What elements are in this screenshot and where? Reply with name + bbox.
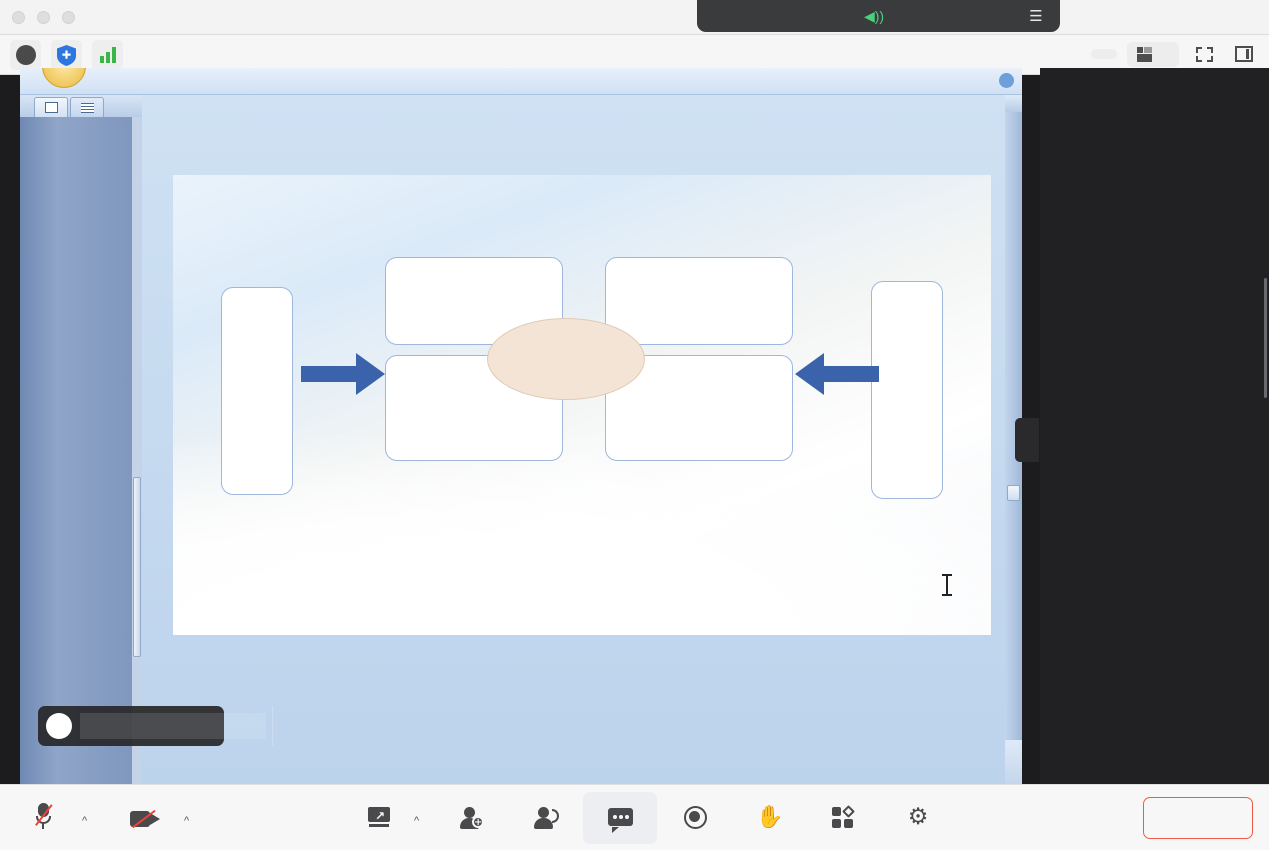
mic-off-icon xyxy=(34,803,52,829)
share-screen-icon: ↗ xyxy=(367,803,391,829)
shared-powerpoint-window xyxy=(20,68,1022,784)
security-button[interactable] xyxy=(51,40,82,70)
tab-slides[interactable] xyxy=(34,97,68,117)
participants-panel xyxy=(1040,68,1269,784)
text-cursor-icon xyxy=(946,575,948,595)
chat-button[interactable] xyxy=(583,792,657,844)
members-button[interactable] xyxy=(508,792,582,844)
apps-icon xyxy=(832,803,856,829)
settings-button[interactable]: ⚙ xyxy=(881,792,955,844)
tab-outline[interactable] xyxy=(70,97,104,117)
thumbnail-pane-header xyxy=(20,95,142,117)
info-icon xyxy=(16,45,36,65)
share-options-chevron-icon[interactable]: ^ xyxy=(414,815,419,827)
slide-box-unity xyxy=(605,257,793,345)
signal-bars-icon xyxy=(100,47,116,63)
apps-button[interactable] xyxy=(807,792,881,844)
slide-canvas-area xyxy=(142,95,1022,784)
ppt-ribbon xyxy=(20,68,1022,95)
record-button[interactable] xyxy=(658,792,732,844)
chat-overlay-bar[interactable] xyxy=(38,706,224,746)
members-icon xyxy=(533,803,557,829)
window-controls[interactable] xyxy=(12,11,75,24)
raise-hand-icon: ✋ xyxy=(756,803,783,829)
slide-right-box xyxy=(871,281,943,499)
slide-thumbnail-pane xyxy=(20,95,142,784)
window-title-bar: ◀)) ☰ xyxy=(0,0,1269,35)
fullscreen-icon xyxy=(1196,47,1213,62)
collapse-panel-button[interactable] xyxy=(1015,418,1039,462)
thumbnail-list[interactable] xyxy=(20,117,132,784)
camera-off-icon xyxy=(130,803,160,829)
thumbnail-scrollbar-thumb[interactable] xyxy=(133,477,141,657)
minimize-button[interactable] xyxy=(37,11,50,24)
invite-icon: + xyxy=(459,803,483,829)
close-icon[interactable] xyxy=(119,97,137,115)
left-arrow-icon xyxy=(301,353,385,400)
chat-input[interactable] xyxy=(80,713,266,739)
maximize-button[interactable] xyxy=(62,11,75,24)
thumbnail-scrollbar[interactable] xyxy=(132,117,142,784)
close-button[interactable] xyxy=(12,11,25,24)
chat-icon xyxy=(608,803,633,829)
emoji-icon[interactable] xyxy=(46,713,72,739)
gear-icon: ⚙ xyxy=(908,803,929,829)
participants-scrollbar[interactable] xyxy=(1264,278,1267,398)
network-stats-button[interactable] xyxy=(92,40,123,70)
view-mode-selector[interactable] xyxy=(1127,42,1179,67)
meeting-info-button[interactable] xyxy=(10,40,41,70)
video-options-chevron-icon[interactable]: ^ xyxy=(184,815,189,827)
help-icon[interactable] xyxy=(999,73,1014,88)
raise-hand-button[interactable]: ✋ xyxy=(733,792,807,844)
layout-icon xyxy=(1137,47,1153,62)
scrollbar-thumb[interactable] xyxy=(1007,485,1020,501)
meeting-screen-share-window: ◀)) ☰ xyxy=(0,0,1269,850)
side-panel-button[interactable] xyxy=(1229,39,1259,69)
invite-button[interactable]: + xyxy=(434,792,508,844)
hamburger-icon[interactable]: ☰ xyxy=(1026,6,1046,26)
share-screen-button[interactable]: ↗ xyxy=(342,792,416,844)
current-slide[interactable] xyxy=(173,175,991,635)
record-icon xyxy=(684,803,707,829)
leave-meeting-button[interactable] xyxy=(1143,797,1253,839)
meeting-timer xyxy=(1091,49,1117,59)
shield-plus-icon xyxy=(57,45,76,66)
right-arrow-icon xyxy=(795,353,879,400)
audio-options-chevron-icon[interactable]: ^ xyxy=(82,815,87,827)
fullscreen-button[interactable] xyxy=(1189,39,1219,69)
meeting-controls-bar: ^ ^ ↗ ^ + xyxy=(0,784,1269,850)
slide-left-box xyxy=(221,287,293,495)
split-view-icon xyxy=(1235,46,1253,62)
speaker-icon: ◀)) xyxy=(864,9,884,23)
screen-share-banner: ◀)) ☰ xyxy=(697,0,1060,32)
scroll-up-button[interactable] xyxy=(1005,95,1022,112)
chat-collapse-button[interactable] xyxy=(272,706,273,746)
ppt-logo-icon xyxy=(42,68,86,88)
start-video-button[interactable] xyxy=(108,792,182,844)
slide-center-ellipse xyxy=(487,318,645,400)
unmute-button[interactable] xyxy=(6,792,80,844)
